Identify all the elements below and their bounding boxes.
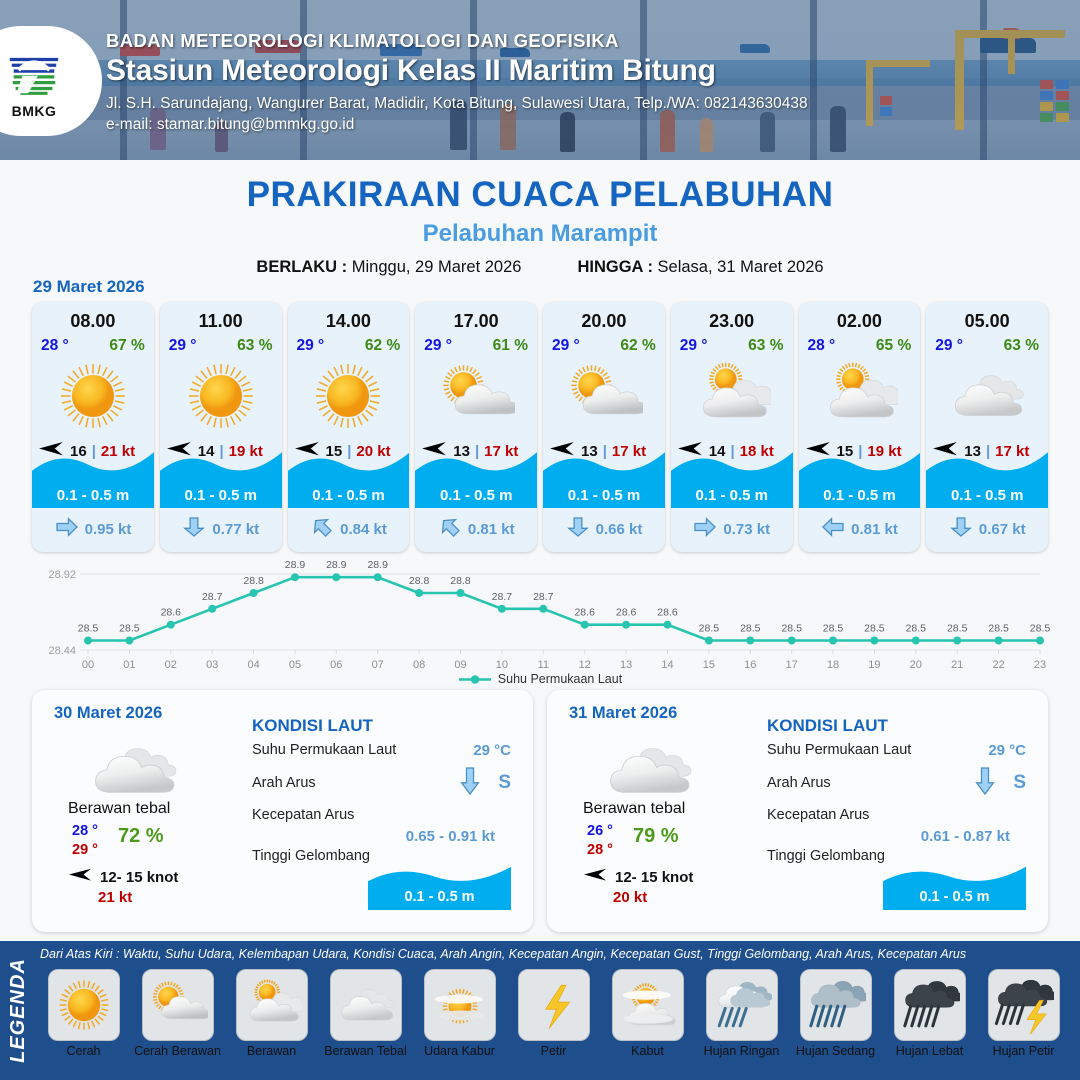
svg-text:28.5: 28.5 <box>988 623 1009 635</box>
header-text-block: BADAN METEOROLOGI KLIMATOLOGI DAN GEOFIS… <box>106 30 808 134</box>
port-name: Pelabuhan Marampit <box>0 220 1080 248</box>
chart-legend: Suhu Permukaan Laut <box>0 672 1080 686</box>
light-rain-icon <box>706 969 778 1041</box>
legend-item: Petir <box>508 969 599 1058</box>
hour-temp-hum-row: 29 ° 61 % <box>415 337 537 355</box>
svg-text:22: 22 <box>992 659 1004 671</box>
svg-text:28.9: 28.9 <box>367 559 388 571</box>
svg-text:07: 07 <box>372 659 384 671</box>
valid-from: BERLAKU : Minggu, 29 Maret 2026 <box>256 258 521 277</box>
svg-text:28.6: 28.6 <box>574 607 595 619</box>
current-direction-label: Arah Arus <box>252 775 316 791</box>
svg-text:21: 21 <box>951 659 963 671</box>
hour-time: 08.00 <box>32 311 154 332</box>
wave-height-label: Tinggi Gelombang <box>252 848 370 864</box>
sunny-icon <box>32 357 154 435</box>
arrow-down-icon <box>949 516 973 543</box>
valid-until: HINGGA : Selasa, 31 Maret 2026 <box>577 258 823 277</box>
arrow-right-icon <box>693 516 717 543</box>
hourly-forecast-list: 08.00 28 ° 67 % 16 | 21 kt 0.1 - 0.5 m 0… <box>32 302 1048 552</box>
legend-item-label: Berawan <box>247 1044 296 1058</box>
legend-side-title-text: LEGENDA <box>7 958 30 1063</box>
svg-text:28.44: 28.44 <box>48 645 76 657</box>
valid-until-value: Selasa, 31 Maret 2026 <box>658 258 824 276</box>
svg-text:28.8: 28.8 <box>409 575 430 587</box>
hour-current-row: 0.84 kt <box>288 516 410 543</box>
wave-height-label: Tinggi Gelombang <box>767 848 885 864</box>
partly-cloudy-icon <box>543 357 665 435</box>
svg-text:28.5: 28.5 <box>699 623 720 635</box>
hour-humidity: 63 % <box>748 337 783 355</box>
hour-wave-height: 0.1 - 0.5 m <box>799 487 921 504</box>
svg-text:18: 18 <box>827 659 839 671</box>
hour-temp-hum-row: 29 ° 63 % <box>671 337 793 355</box>
legend-item: Berawan <box>226 969 317 1058</box>
hour-wave-height: 0.1 - 0.5 m <box>288 487 410 504</box>
legend-item: Cerah Berawan <box>132 969 223 1058</box>
legend-item-label: Hujan Lebat <box>896 1044 963 1058</box>
current-speed-value: 0.61 - 0.87 kt <box>921 828 1010 845</box>
hour-card: 05.00 29 ° 63 % 13 | 17 kt 0.1 - 0.5 m 0… <box>926 302 1048 552</box>
sea-condition-title: KONDISI LAUT <box>767 716 888 736</box>
moderate-rain-icon <box>800 969 872 1041</box>
svg-text:28.7: 28.7 <box>492 591 513 603</box>
legend-item-label: Kabut <box>631 1044 664 1058</box>
daily-wind-row: 12- 15 knot <box>68 866 178 888</box>
mostly-cloudy-icon <box>671 357 793 435</box>
hour-temp-hum-row: 29 ° 62 % <box>288 337 410 355</box>
svg-text:28.9: 28.9 <box>326 559 347 571</box>
hour-wave-height: 0.1 - 0.5 m <box>926 487 1048 504</box>
daily-gust-speed: 21 kt <box>98 889 132 906</box>
hour-humidity: 62 % <box>620 337 655 355</box>
hour-temperature: 28 ° <box>41 337 69 355</box>
svg-text:17: 17 <box>786 659 798 671</box>
daily-condition: Berawan tebal <box>68 800 170 818</box>
wind-arrow-west-icon <box>68 866 93 888</box>
hour-card: 11.00 29 ° 63 % 14 | 19 kt 0.1 - 0.5 m 0… <box>160 302 282 552</box>
svg-text:20: 20 <box>910 659 922 671</box>
weather-legend-bar: LEGENDA Dari Atas Kiri : Waktu, Suhu Uda… <box>0 941 1080 1080</box>
sunny-icon <box>288 357 410 435</box>
legend-item: Cerah <box>38 969 129 1058</box>
legend-item: Hujan Petir <box>978 969 1069 1058</box>
hour-temperature: 29 ° <box>424 337 452 355</box>
hour-temperature: 28 ° <box>808 337 836 355</box>
svg-text:28.5: 28.5 <box>78 623 99 635</box>
hour-wave-height: 0.1 - 0.5 m <box>543 487 665 504</box>
legend-side-title: LEGENDA <box>0 941 36 1080</box>
svg-text:28.8: 28.8 <box>243 575 264 587</box>
bmkg-logo-icon <box>5 44 63 102</box>
hour-current-row: 0.95 kt <box>32 516 154 543</box>
sst-value: 29 °C <box>473 742 511 759</box>
svg-text:28.6: 28.6 <box>161 607 182 619</box>
hour-wave-height: 0.1 - 0.5 m <box>32 487 154 504</box>
current-speed-value: 0.65 - 0.91 kt <box>406 828 495 845</box>
svg-text:11: 11 <box>538 659 549 671</box>
current-speed-label: Kecepatan Arus <box>252 807 354 823</box>
svg-text:06: 06 <box>330 659 342 671</box>
daily-wave-value: 0.1 - 0.5 m <box>368 889 511 905</box>
daily-condition: Berawan tebal <box>583 800 685 818</box>
arrow-down-icon <box>566 516 590 543</box>
hour-card: 14.00 29 ° 62 % 15 | 20 kt 0.1 - 0.5 m 0… <box>288 302 410 552</box>
hour-time: 17.00 <box>415 311 537 332</box>
hour-current-row: 0.66 kt <box>543 516 665 543</box>
svg-text:28.5: 28.5 <box>864 623 885 635</box>
legend-item-label: Petir <box>541 1044 567 1058</box>
page-header: BMKG BADAN METEOROLOGI KLIMATOLOGI DAN G… <box>0 0 1080 160</box>
partly-cloudy-icon <box>415 357 537 435</box>
svg-text:28.5: 28.5 <box>947 623 968 635</box>
daily-date: 30 Maret 2026 <box>54 704 162 723</box>
hour-current-speed: 0.81 kt <box>851 521 898 538</box>
valid-until-label: HINGGA : <box>577 258 652 276</box>
hour-time: 14.00 <box>288 311 410 332</box>
daily-panel: 31 Maret 2026 Berawan tebal 26 ° 28 ° 79… <box>547 690 1048 932</box>
cloudy-icon <box>602 734 694 796</box>
legend-item-label: Hujan Ringan <box>704 1044 780 1058</box>
cloudy-icon <box>330 969 402 1041</box>
daily-temp-min: 26 ° <box>587 823 613 839</box>
arrow-downleft-icon <box>438 516 462 543</box>
station-address: Jl. S.H. Sarundajang, Wangurer Barat, Ma… <box>106 95 808 113</box>
legend-item: Berawan Tebal <box>320 969 411 1058</box>
svg-text:14: 14 <box>661 659 673 671</box>
hour-humidity: 61 % <box>493 337 528 355</box>
legend-item: Udara Kabur <box>414 969 505 1058</box>
arrow-downleft-icon <box>310 516 334 543</box>
hour-current-speed: 0.73 kt <box>723 521 770 538</box>
daily-wind-row: 12- 15 knot <box>583 866 693 888</box>
svg-text:28.92: 28.92 <box>48 569 76 581</box>
arrow-right-icon <box>55 516 79 543</box>
svg-text:15: 15 <box>703 659 715 671</box>
partly-cloudy-icon <box>142 969 214 1041</box>
valid-from-label: BERLAKU : <box>256 258 347 276</box>
current-speed-label: Kecepatan Arus <box>767 807 869 823</box>
daily-forecast-panels: 30 Maret 2026 Berawan tebal 28 ° 29 ° 72… <box>32 690 1048 932</box>
hour-current-speed: 0.77 kt <box>212 521 259 538</box>
daily-gust-speed: 20 kt <box>613 889 647 906</box>
svg-text:23: 23 <box>1034 659 1046 671</box>
svg-text:28.5: 28.5 <box>906 623 927 635</box>
hour-temperature: 29 ° <box>935 337 963 355</box>
hour-humidity: 63 % <box>1004 337 1039 355</box>
hour-current-row: 0.77 kt <box>160 516 282 543</box>
hour-temperature: 29 ° <box>552 337 580 355</box>
hour-time: 05.00 <box>926 311 1048 332</box>
hour-current-row: 0.81 kt <box>799 516 921 543</box>
daily-date: 31 Maret 2026 <box>569 704 677 723</box>
legend-item: Hujan Lebat <box>884 969 975 1058</box>
svg-text:28.7: 28.7 <box>202 591 223 603</box>
svg-text:28.6: 28.6 <box>616 607 637 619</box>
current-direction-value: S <box>498 772 511 794</box>
sst-label: Suhu Permukaan Laut <box>252 742 396 758</box>
hour-current-row: 0.67 kt <box>926 516 1048 543</box>
hour-temperature: 29 ° <box>297 337 325 355</box>
thunderstorm-rain-icon <box>988 969 1060 1041</box>
legend-item-label: Berawan Tebal <box>324 1044 406 1058</box>
legend-item: Hujan Sedang <box>790 969 881 1058</box>
svg-text:03: 03 <box>206 659 218 671</box>
station-email: e-mail: stamar.bitung@bmmkg.go.id <box>106 116 808 134</box>
daily-temp-min: 28 ° <box>72 823 98 839</box>
bmkg-logo-text: BMKG <box>12 103 57 119</box>
hour-wave-height: 0.1 - 0.5 m <box>671 487 793 504</box>
daily-humidity: 72 % <box>118 825 164 848</box>
hour-current-row: 0.81 kt <box>415 516 537 543</box>
svg-text:00: 00 <box>82 659 94 671</box>
cloudy-icon <box>87 734 179 796</box>
svg-text:05: 05 <box>289 659 301 671</box>
sst-label: Suhu Permukaan Laut <box>767 742 911 758</box>
svg-text:01: 01 <box>123 659 135 671</box>
mostly-cloudy-icon <box>799 357 921 435</box>
daily-panel: 30 Maret 2026 Berawan tebal 28 ° 29 ° 72… <box>32 690 533 932</box>
hour-card: 20.00 29 ° 62 % 13 | 17 kt 0.1 - 0.5 m 0… <box>543 302 665 552</box>
svg-text:16: 16 <box>744 659 756 671</box>
hour-wave-height: 0.1 - 0.5 m <box>160 487 282 504</box>
hour-current-speed: 0.95 kt <box>85 521 132 538</box>
hour-humidity: 65 % <box>876 337 911 355</box>
sst-chart: 28.9228.4428.50028.50128.60228.70328.804… <box>28 558 1052 678</box>
hour-temperature: 29 ° <box>169 337 197 355</box>
svg-text:02: 02 <box>165 659 177 671</box>
wind-arrow-west-icon <box>583 866 608 888</box>
current-direction-label: Arah Arus <box>767 775 831 791</box>
arrow-down-icon <box>974 766 996 801</box>
hour-humidity: 62 % <box>365 337 400 355</box>
hour-temp-hum-row: 28 ° 65 % <box>799 337 921 355</box>
svg-text:28.6: 28.6 <box>657 607 678 619</box>
svg-text:28.5: 28.5 <box>1030 623 1051 635</box>
sea-condition-title: KONDISI LAUT <box>252 716 373 736</box>
heavy-rain-icon <box>894 969 966 1041</box>
hour-temperature: 29 ° <box>680 337 708 355</box>
svg-text:09: 09 <box>454 659 466 671</box>
hour-time: 11.00 <box>160 311 282 332</box>
hour-time: 02.00 <box>799 311 921 332</box>
hour-card: 08.00 28 ° 67 % 16 | 21 kt 0.1 - 0.5 m 0… <box>32 302 154 552</box>
chart-legend-marker-icon <box>458 674 492 685</box>
hour-card: 23.00 29 ° 63 % 14 | 18 kt 0.1 - 0.5 m 0… <box>671 302 793 552</box>
hour-wave-height: 0.1 - 0.5 m <box>415 487 537 504</box>
hour-humidity: 67 % <box>109 337 144 355</box>
hour-current-speed: 0.66 kt <box>596 521 643 538</box>
sst-value: 29 °C <box>988 742 1026 759</box>
svg-text:28.8: 28.8 <box>450 575 471 587</box>
hour-temp-hum-row: 29 ° 62 % <box>543 337 665 355</box>
svg-text:28.7: 28.7 <box>533 591 554 603</box>
daily-wave-value: 0.1 - 0.5 m <box>883 889 1026 905</box>
sunny-icon <box>48 969 120 1041</box>
forecast-date-label: 29 Maret 2026 <box>33 277 145 297</box>
svg-text:28.5: 28.5 <box>781 623 802 635</box>
svg-text:28.5: 28.5 <box>740 623 761 635</box>
legend-item-list: Cerah Cerah Berawan Berawan Berawan Teba… <box>38 969 1076 1058</box>
hour-temp-hum-row: 29 ° 63 % <box>926 337 1048 355</box>
lightning-icon <box>518 969 590 1041</box>
station-name: Stasiun Meteorologi Kelas II Maritim Bit… <box>106 54 808 88</box>
agency-name: BADAN METEOROLOGI KLIMATOLOGI DAN GEOFIS… <box>106 30 808 52</box>
arrow-down-icon <box>182 516 206 543</box>
hour-current-speed: 0.81 kt <box>468 521 515 538</box>
legend-item-label: Cerah <box>66 1044 100 1058</box>
legend-item-label: Udara Kabur <box>424 1044 495 1058</box>
haze-icon <box>424 969 496 1041</box>
hour-card: 17.00 29 ° 61 % 13 | 17 kt 0.1 - 0.5 m 0… <box>415 302 537 552</box>
page-title: PRAKIRAAN CUACA PELABUHAN <box>0 175 1080 215</box>
sunny-icon <box>160 357 282 435</box>
hour-temp-hum-row: 28 ° 67 % <box>32 337 154 355</box>
svg-text:08: 08 <box>413 659 425 671</box>
arrow-left-icon <box>821 516 845 543</box>
hour-time: 23.00 <box>671 311 793 332</box>
svg-text:13: 13 <box>620 659 632 671</box>
svg-text:12: 12 <box>579 659 591 671</box>
legend-item-label: Hujan Petir <box>993 1044 1055 1058</box>
daily-humidity: 79 % <box>633 825 679 848</box>
daily-wind-speed: 12- 15 knot <box>100 869 178 886</box>
svg-text:28.5: 28.5 <box>119 623 140 635</box>
hour-current-row: 0.73 kt <box>671 516 793 543</box>
valid-from-value: Minggu, 29 Maret 2026 <box>352 258 522 276</box>
daily-wind-speed: 12- 15 knot <box>615 869 693 886</box>
svg-text:28.9: 28.9 <box>285 559 306 571</box>
hour-card: 02.00 28 ° 65 % 15 | 19 kt 0.1 - 0.5 m 0… <box>799 302 921 552</box>
hour-current-speed: 0.67 kt <box>979 521 1026 538</box>
hour-time: 20.00 <box>543 311 665 332</box>
svg-text:28.5: 28.5 <box>823 623 844 635</box>
svg-text:10: 10 <box>496 659 508 671</box>
fog-icon <box>612 969 684 1041</box>
legend-item-label: Cerah Berawan <box>134 1044 221 1058</box>
arrow-down-icon <box>459 766 481 801</box>
svg-text:19: 19 <box>868 659 880 671</box>
legend-item-label: Hujan Sedang <box>796 1044 875 1058</box>
svg-text:04: 04 <box>247 659 259 671</box>
daily-temp-max: 29 ° <box>72 842 98 858</box>
legend-note: Dari Atas Kiri : Waktu, Suhu Udara, Kele… <box>40 947 966 961</box>
legend-item: Hujan Ringan <box>696 969 787 1058</box>
mostly-cloudy-icon <box>236 969 308 1041</box>
hour-humidity: 63 % <box>237 337 272 355</box>
hour-temp-hum-row: 29 ° 63 % <box>160 337 282 355</box>
legend-item: Kabut <box>602 969 693 1058</box>
cloudy-icon <box>926 357 1048 435</box>
current-direction-value: S <box>1013 772 1026 794</box>
validity-row: BERLAKU : Minggu, 29 Maret 2026 HINGGA :… <box>0 258 1080 277</box>
daily-temp-max: 28 ° <box>587 842 613 858</box>
chart-legend-label: Suhu Permukaan Laut <box>498 672 622 686</box>
hour-current-speed: 0.84 kt <box>340 521 387 538</box>
